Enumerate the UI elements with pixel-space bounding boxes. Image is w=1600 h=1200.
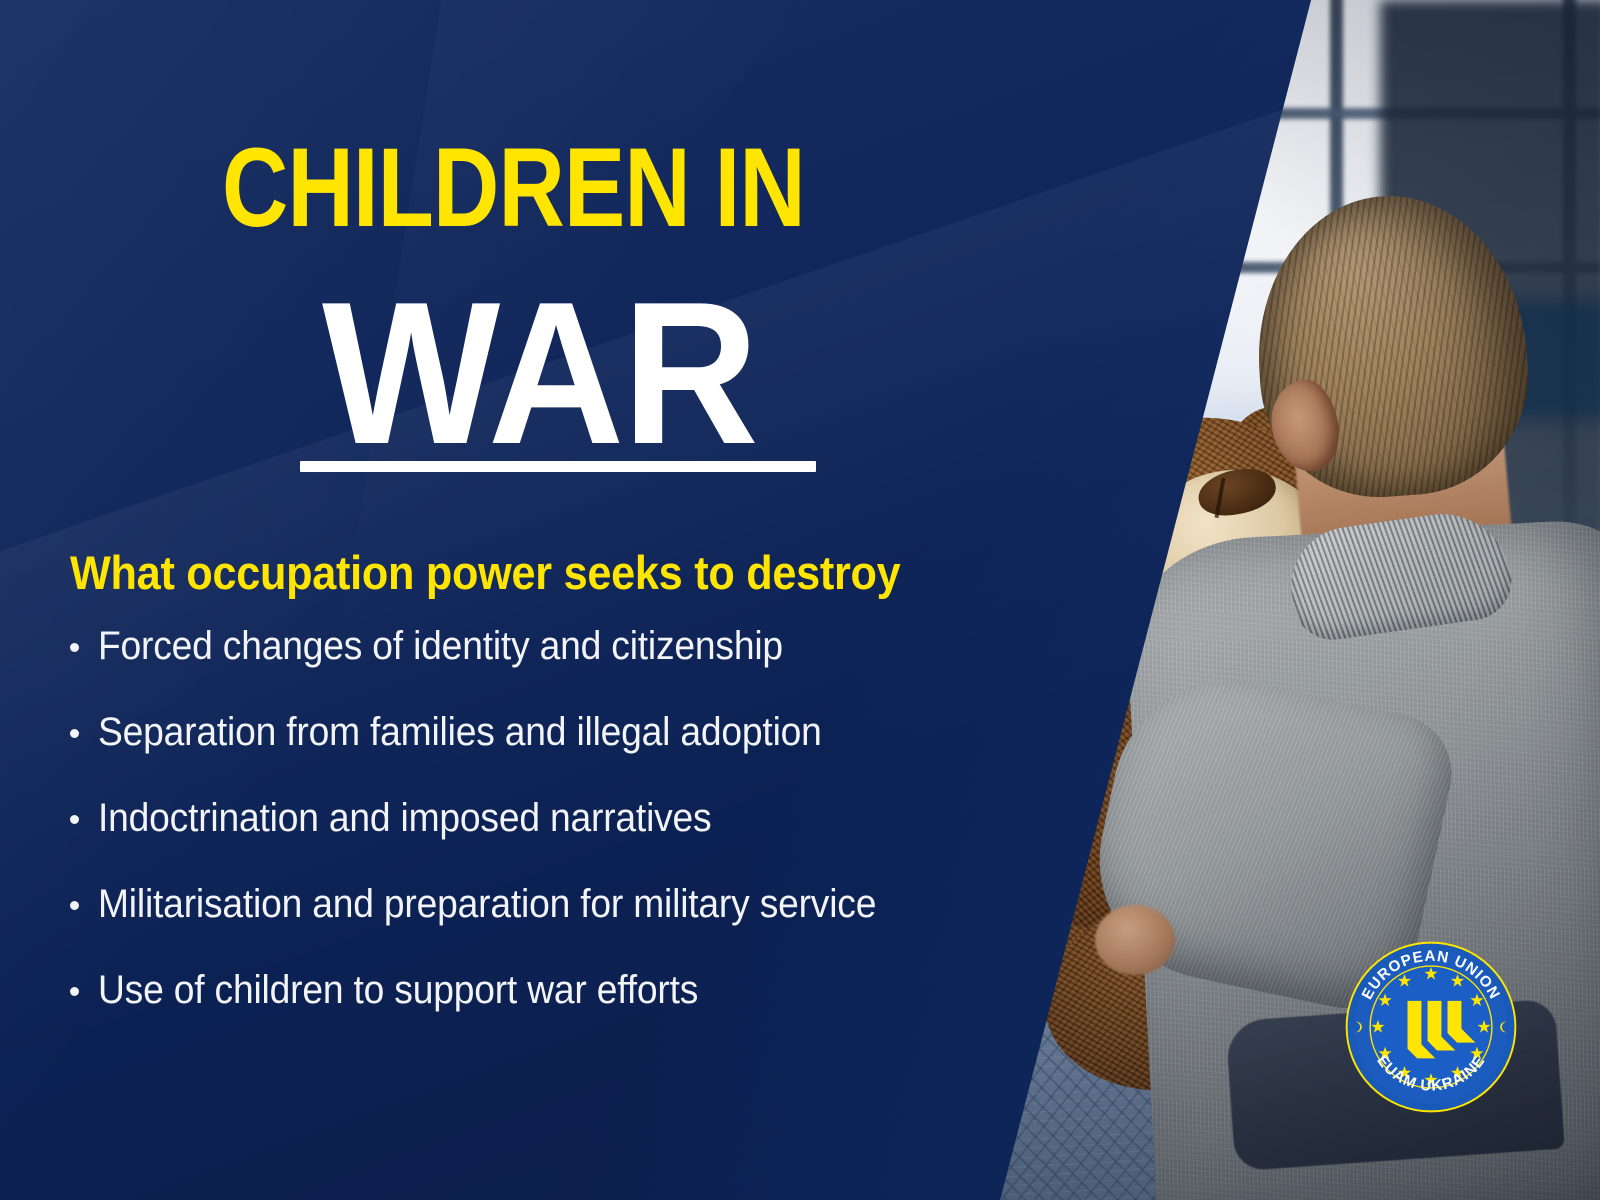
euam-logo-svg: EUROPEAN UNION EUAM UKRAINE <box>1344 940 1518 1114</box>
list-item: Militarisation and preparation for milit… <box>68 884 1028 970</box>
bullet-dot-icon <box>70 643 79 652</box>
list-item-label: Forced changes of identity and citizensh… <box>98 626 783 666</box>
logo-notch-left-cut <box>1350 1022 1360 1032</box>
list-item: Use of children to support war efforts <box>68 970 1028 1056</box>
page-title-line-2: WAR <box>322 272 757 475</box>
bullet-dot-icon <box>70 815 79 824</box>
bullet-dot-icon <box>70 901 79 910</box>
subheading: What occupation power seeks to destroy <box>70 549 900 596</box>
list-item: Separation from families and illegal ado… <box>68 712 1028 798</box>
euam-ukraine-logo: EUROPEAN UNION EUAM UKRAINE <box>1344 940 1518 1114</box>
list-item-label: Separation from families and illegal ado… <box>98 712 822 752</box>
bullet-dot-icon <box>70 729 79 738</box>
bullet-list: Forced changes of identity and citizensh… <box>68 626 1028 1056</box>
list-item-label: Use of children to support war efforts <box>98 970 698 1010</box>
poster-content: CHILDREN IN WAR What occupation power se… <box>0 0 1600 1200</box>
title-underline-rule <box>300 461 816 472</box>
list-item-label: Indoctrination and imposed narratives <box>98 798 711 838</box>
page-title-line-1: CHILDREN IN <box>222 132 805 244</box>
poster-canvas: CHILDREN IN WAR What occupation power se… <box>0 0 1600 1200</box>
list-item-label: Militarisation and preparation for milit… <box>98 884 876 924</box>
bullet-dot-icon <box>70 987 79 996</box>
list-item: Forced changes of identity and citizensh… <box>68 626 1028 712</box>
list-item: Indoctrination and imposed narratives <box>68 798 1028 884</box>
logo-notch-right-cut <box>1502 1022 1512 1032</box>
